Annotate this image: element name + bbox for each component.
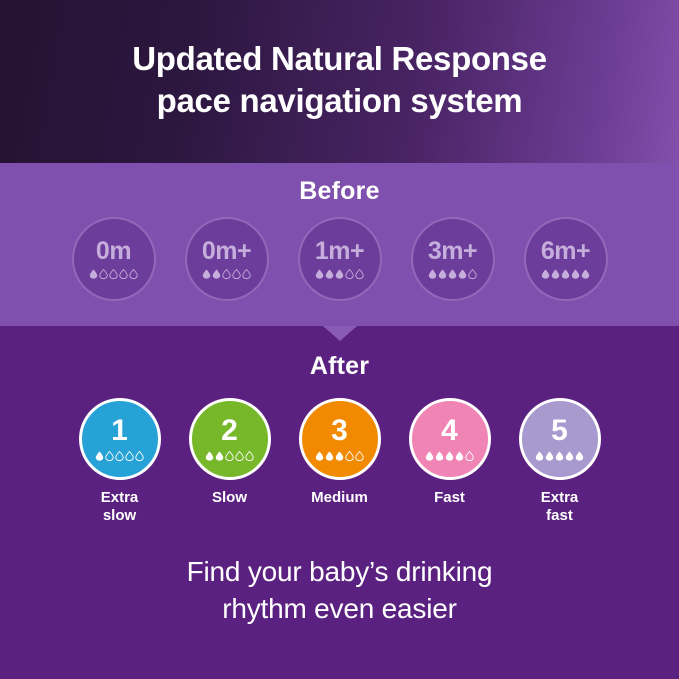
water-drop-outline-icon [119,268,128,280]
before-age-label: 3m+ [428,239,477,264]
water-drop-filled-icon [445,450,454,462]
before-heading: Before [0,177,679,206]
water-drop-outline-icon [125,450,134,462]
pace-navigation-infographic: Updated Natural Response pace navigation… [0,0,679,679]
after-flow-label-line-1: Medium [311,489,368,506]
water-drop-filled-icon [95,450,104,462]
flow-rate-drops [95,449,144,462]
water-drop-filled-icon [561,268,570,280]
water-drop-filled-icon [565,450,574,462]
water-drop-outline-icon [109,268,118,280]
water-drop-outline-icon [245,450,254,462]
before-circle[interactable]: 6m+ [524,217,608,301]
water-drop-filled-icon [89,268,98,280]
after-circle[interactable]: 1 [79,398,161,480]
flow-rate-drops [535,449,584,462]
water-drop-filled-icon [335,450,344,462]
water-drop-outline-icon [99,268,108,280]
footer-tagline: Find your baby’s drinking rhythm even ea… [0,554,679,628]
flow-rate-drops [89,267,138,280]
after-item[interactable]: 1Extraslow [74,398,166,526]
water-drop-filled-icon [325,450,334,462]
before-circle[interactable]: 0m+ [185,217,269,301]
water-drop-filled-icon [212,268,221,280]
water-drop-outline-icon [225,450,234,462]
water-drop-outline-icon [345,450,354,462]
water-drop-outline-icon [129,268,138,280]
water-drop-filled-icon [545,450,554,462]
footer-tagline-line-2: rhythm even easier [0,591,679,628]
chevron-down-arrow-icon [323,326,357,341]
water-drop-outline-icon [345,268,354,280]
water-drop-outline-icon [468,268,477,280]
after-flow-number: 3 [331,416,348,446]
water-drop-filled-icon [448,268,457,280]
water-drop-outline-icon [115,450,124,462]
water-drop-filled-icon [315,268,324,280]
before-age-label: 6m+ [541,239,590,264]
after-item[interactable]: 5Extrafast [514,398,606,526]
water-drop-filled-icon [435,450,444,462]
after-heading: After [0,352,679,381]
water-drop-filled-icon [458,268,467,280]
after-circle[interactable]: 2 [189,398,271,480]
water-drop-outline-icon [222,268,231,280]
water-drop-outline-icon [242,268,251,280]
page-title-line-1: Updated Natural Response [0,38,679,80]
after-flow-label: Fast [434,489,465,507]
water-drop-filled-icon [425,450,434,462]
flow-rate-drops [428,267,477,280]
before-age-label: 0m+ [202,239,251,264]
water-drop-outline-icon [355,450,364,462]
flow-rate-drops [315,449,364,462]
water-drop-filled-icon [575,450,584,462]
after-flow-number: 1 [111,416,128,446]
water-drop-filled-icon [428,268,437,280]
after-flow-label: Extrafast [541,489,579,526]
flow-rate-drops [315,267,364,280]
before-section: Before 0m0m+1m+3m+6m+ [0,163,679,326]
before-circle[interactable]: 0m [72,217,156,301]
after-flow-number: 4 [441,416,458,446]
flow-rate-drops [205,449,254,462]
water-drop-filled-icon [335,268,344,280]
water-drop-filled-icon [202,268,211,280]
before-age-label: 1m+ [315,239,364,264]
water-drop-filled-icon [551,268,560,280]
water-drop-filled-icon [438,268,447,280]
after-flow-label: Extraslow [101,489,139,526]
after-item[interactable]: 2Slow [184,398,276,507]
after-flow-label-line-1: Extra [541,489,579,506]
water-drop-filled-icon [571,268,580,280]
before-circle[interactable]: 3m+ [411,217,495,301]
after-circle-row: 1Extraslow2Slow3Medium4Fast5Extrafast [0,398,679,526]
water-drop-filled-icon [215,450,224,462]
after-circle[interactable]: 4 [409,398,491,480]
water-drop-outline-icon [355,268,364,280]
water-drop-filled-icon [205,450,214,462]
after-circle[interactable]: 3 [299,398,381,480]
footer-tagline-line-1: Find your baby’s drinking [0,554,679,591]
after-item[interactable]: 3Medium [294,398,386,507]
after-flow-label-line-2: fast [541,507,579,525]
flow-rate-drops [202,267,251,280]
flow-rate-drops [541,267,590,280]
after-flow-number: 2 [221,416,238,446]
before-item[interactable]: 3m+ [409,217,497,301]
water-drop-outline-icon [235,450,244,462]
before-age-label: 0m [96,239,131,264]
before-item[interactable]: 0m+ [183,217,271,301]
water-drop-outline-icon [465,450,474,462]
after-flow-label: Slow [212,489,247,507]
header-band: Updated Natural Response pace navigation… [0,0,679,163]
after-flow-label-line-1: Slow [212,489,247,506]
after-item[interactable]: 4Fast [404,398,496,507]
before-item[interactable]: 0m [70,217,158,301]
water-drop-outline-icon [135,450,144,462]
water-drop-filled-icon [315,450,324,462]
after-flow-label-line-1: Extra [101,489,139,506]
flow-rate-drops [425,449,474,462]
water-drop-filled-icon [455,450,464,462]
water-drop-filled-icon [325,268,334,280]
page-title-line-2: pace navigation system [0,80,679,122]
before-circle[interactable]: 1m+ [298,217,382,301]
after-flow-label-line-1: Fast [434,489,465,506]
water-drop-filled-icon [535,450,544,462]
before-circle-row: 0m0m+1m+3m+6m+ [0,217,679,301]
water-drop-outline-icon [232,268,241,280]
after-circle[interactable]: 5 [519,398,601,480]
water-drop-filled-icon [541,268,550,280]
before-item[interactable]: 1m+ [296,217,384,301]
after-flow-label-line-2: slow [101,507,139,525]
after-flow-label: Medium [311,489,368,507]
page-title: Updated Natural Response pace navigation… [0,38,679,122]
water-drop-outline-icon [105,450,114,462]
water-drop-filled-icon [555,450,564,462]
water-drop-filled-icon [581,268,590,280]
before-item[interactable]: 6m+ [522,217,610,301]
after-flow-number: 5 [551,416,568,446]
